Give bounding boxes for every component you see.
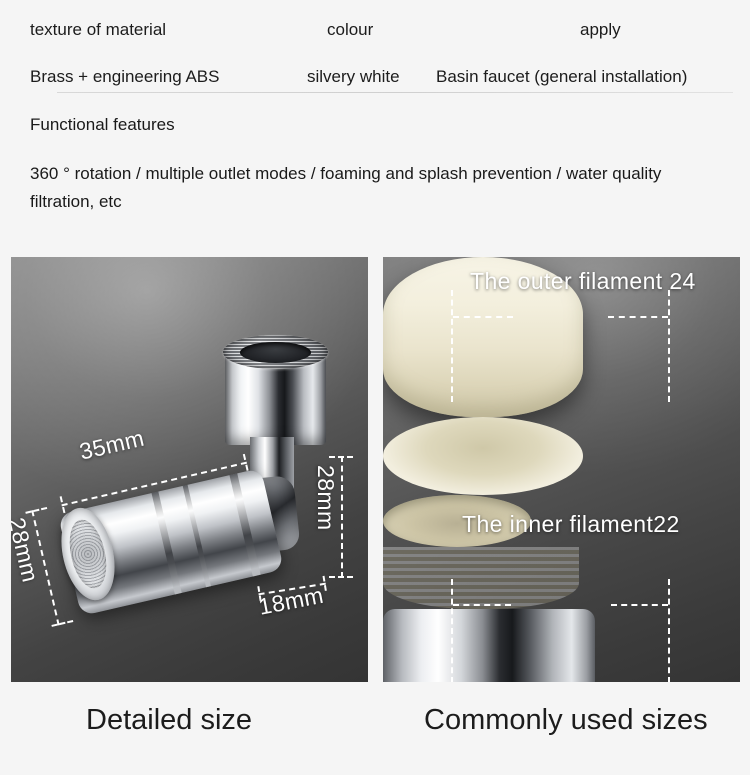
dimension-line [341,456,343,578]
functional-features-title: Functional features [30,111,175,139]
spec-value-colour: silvery white [307,62,400,92]
aerator-collar-bore [240,342,311,363]
dimension-tick [51,620,73,627]
dimension-tick [323,576,327,591]
annotation-tick [668,579,670,682]
annotation-tick [451,579,453,682]
annotation-line [453,316,513,318]
dimension-tick [329,456,353,458]
spec-value-row: Brass + engineering ABS silvery white Ba… [0,62,750,92]
annotation-label-outer-filament: The outer filament 24 [470,268,696,295]
dimension-tick [329,576,353,578]
dimension-tick [25,507,47,514]
specification-block: texture of material colour apply Brass +… [0,0,750,240]
annotation-tick [668,290,670,402]
annotation-line [453,604,511,606]
caption-detailed-size: Detailed size [86,700,252,740]
spec-header-row: texture of material colour apply [0,15,750,45]
spec-header-material: texture of material [30,15,166,45]
dimension-label-collar-height: 28mm [312,465,339,531]
spec-value-material: Brass + engineering ABS [30,62,219,92]
spec-table-divider [57,92,733,93]
spec-value-apply: Basin faucet (general installation) [436,62,687,92]
annotation-bracket-inner-filament [451,583,670,623]
spec-header-apply: apply [580,15,621,45]
outer-filament-rim [383,417,583,495]
annotation-bracket-outer-filament [451,290,670,336]
spec-header-colour: colour [327,15,373,45]
caption-commonly-used-sizes: Commonly used sizes [424,700,708,740]
commonly-used-sizes-photo [383,257,740,682]
detailed-size-photo: 35mm 28mm 28mm 18mm [11,257,368,682]
annotation-label-inner-filament: The inner filament22 [462,511,680,538]
annotation-line [611,604,668,606]
annotation-line [608,316,668,318]
functional-features-text: 360 ° rotation / multiple outlet modes /… [30,160,690,216]
annotation-tick [451,290,453,402]
